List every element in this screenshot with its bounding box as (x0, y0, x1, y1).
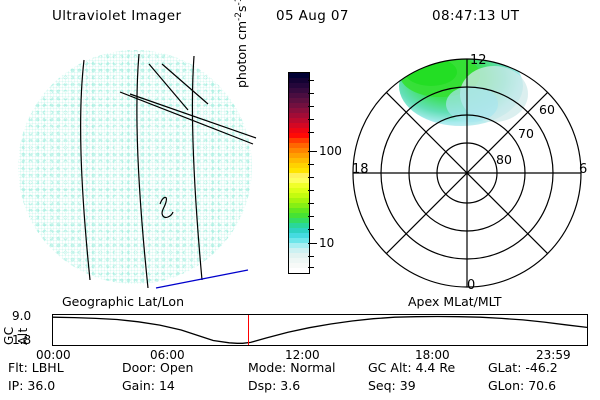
status-field-value: 70.6 (528, 378, 556, 393)
status-field: IP: 36.0 (8, 378, 55, 393)
colorbar-panel: 10010 photon cm-2s-1 (268, 48, 338, 298)
lat-label-60: 60 (539, 102, 555, 117)
status-field-label: Mode: (248, 360, 290, 375)
instrument-title: Ultraviolet Imager (52, 8, 181, 24)
status-fields: Flt: LBHLDoor: OpenMode: NormalGC Alt: 4… (0, 360, 600, 398)
geographic-grid-overlay (12, 42, 262, 294)
terminator-line (156, 270, 248, 288)
status-field-value: LBHL (32, 360, 64, 375)
lat-label-70: 70 (518, 126, 534, 141)
colorbar-ticks: 10010 (308, 72, 338, 274)
status-field: GLon: 70.6 (488, 378, 556, 393)
status-field-value: Normal (290, 360, 335, 375)
status-field-label: GLon: (488, 378, 528, 393)
colorbar-minor-tick (308, 93, 314, 94)
orbit-y-tick-label: 1.8 (12, 333, 31, 347)
colorbar-major-tick (308, 151, 317, 152)
status-field-label: Gain: (122, 378, 159, 393)
status-field: Gain: 14 (122, 378, 175, 393)
colorbar-minor-tick (308, 164, 314, 165)
orbit-altitude-panel: GC Alt 9.01.8 00:0006:0012:0018:0023:59 (0, 308, 600, 354)
mlt-label-18: 18 (352, 162, 369, 177)
colorbar-gradient (288, 72, 310, 274)
status-field-label: Flt: (8, 360, 32, 375)
status-field-label: Dsp: (248, 378, 280, 393)
status-field: GC Alt: 4.4 Re (368, 360, 455, 375)
orbit-plot-area (52, 314, 588, 346)
status-field-label: IP: (8, 378, 27, 393)
observation-time: 08:47:13 UT (432, 8, 519, 24)
mlt-label-6: 6 (579, 162, 587, 177)
colorbar-label-exp2: -1 (234, 0, 244, 6)
colorbar-label-exp1: -2 (234, 12, 244, 21)
colorbar-minor-tick (308, 80, 314, 81)
geographic-panel-caption: Geographic Lat/Lon (62, 294, 184, 309)
colorbar-minor-tick (308, 267, 314, 268)
status-field-value: 36.0 (27, 378, 55, 393)
status-field: Mode: Normal (248, 360, 335, 375)
colorbar-minor-tick (308, 229, 314, 230)
status-field-value: -46.2 (525, 360, 557, 375)
status-field-value: 14 (159, 378, 175, 393)
colorbar-label-mid: s (234, 6, 249, 13)
status-field-label: Door: (122, 360, 160, 375)
status-field-value: 39 (400, 378, 416, 393)
mlt-label-12: 12 (470, 53, 487, 68)
orbit-altitude-curve (53, 315, 587, 345)
colorbar-minor-tick (308, 106, 314, 107)
status-field: Door: Open (122, 360, 193, 375)
geographic-image-panel (12, 42, 262, 294)
polar-panel-caption: Apex MLat/MLT (408, 294, 502, 309)
colorbar-major-tick (308, 243, 317, 244)
status-field-value: 4.4 Re (416, 360, 456, 375)
status-field-value: 3.6 (280, 378, 300, 393)
colorbar-minor-tick (308, 177, 314, 178)
colorbar-tick-label: 10 (319, 236, 334, 250)
header-bar: Ultraviolet Imager 05 Aug 07 08:47:13 UT (0, 8, 600, 30)
colorbar-band (289, 268, 309, 273)
mlt-label-0: 0 (467, 278, 475, 293)
observation-date: 05 Aug 07 (276, 8, 349, 24)
status-field-value: Open (160, 360, 193, 375)
polar-mlat-mlt-panel: 12 18 6 0 60 70 80 (336, 42, 594, 294)
colorbar-minor-tick (308, 216, 314, 217)
colorbar-minor-tick (308, 256, 314, 257)
status-field-label: GC Alt: (368, 360, 416, 375)
status-field: GLat: -46.2 (488, 360, 558, 375)
status-field-label: GLat: (488, 360, 525, 375)
colorbar-minor-tick (308, 132, 314, 133)
status-field-label: Seq: (368, 378, 400, 393)
lat-label-80: 80 (496, 152, 512, 167)
status-field: Dsp: 3.6 (248, 378, 300, 393)
colorbar-axis-label: photon cm-2s-1 (234, 0, 249, 88)
colorbar-label-main: photon cm (234, 21, 249, 88)
polar-dial-labels: 12 18 6 0 60 70 80 (336, 42, 594, 294)
orbit-y-tick-label: 9.0 (12, 309, 31, 323)
colorbar-minor-tick (308, 190, 314, 191)
status-field: Flt: LBHL (8, 360, 64, 375)
current-time-marker (248, 315, 249, 345)
status-field: Seq: 39 (368, 378, 416, 393)
colorbar-minor-tick (308, 119, 314, 120)
colorbar-minor-tick (308, 203, 314, 204)
